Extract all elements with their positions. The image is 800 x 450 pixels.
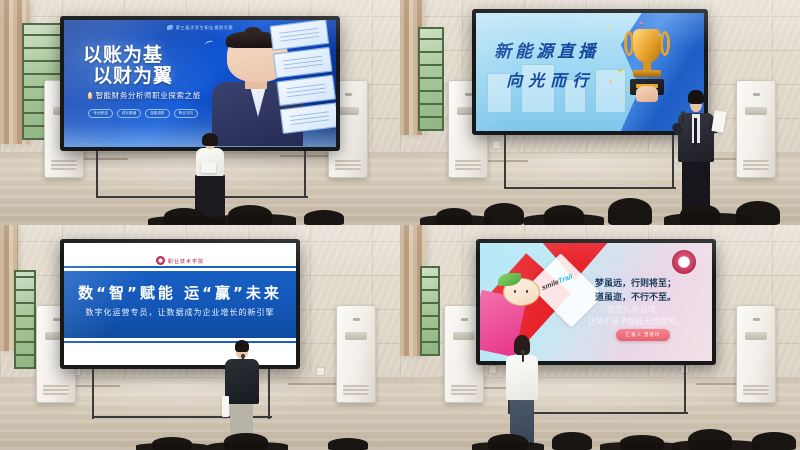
slide-title-line1: 以账为基	[83, 44, 163, 66]
presenter-paper	[201, 162, 215, 173]
microphone-icon	[522, 353, 524, 362]
confetti	[640, 22, 643, 23]
collage-panel-bottom-right: smileTrail 梦虽远，行则将至； 道虽迩，不行不至。 我愿扎根县域， 让…	[400, 225, 800, 450]
photo-collage-grid: 第三届大学生职业规划大赛 以账为基 以财为翼 智能财务分析师职业探索之旅 专业积…	[0, 0, 800, 450]
lightbulb-icon	[88, 92, 92, 99]
trophy-base	[633, 70, 661, 77]
slide-title-line2: 以财为翼	[93, 66, 173, 87]
slide-title: 以账为基 以财为翼	[83, 45, 173, 88]
presenter-hair	[202, 133, 218, 146]
collage-panel-bottom-left: 职业技术学院 数“智”赋能 运“赢”未来 数字化运营专员，让数据成为企业增长的新…	[0, 225, 400, 450]
collage-panel-top-left: 第三届大学生职业规划大赛 以账为基 以财为翼 智能财务分析师职业探索之旅 专业积…	[0, 0, 400, 225]
slide-background: 第三届大学生职业规划大赛 以账为基 以财为翼 智能财务分析师职业探索之旅 专业积…	[64, 20, 336, 147]
institution-seal-icon	[672, 250, 696, 274]
screen-stand	[304, 151, 306, 198]
window	[418, 27, 444, 131]
audience-head	[304, 210, 344, 225]
slide-tag: 成长赛道	[117, 109, 141, 119]
slide-aspiration-line2: 让每个孩子都能无忧微笑。	[573, 316, 698, 328]
slide-background: 新能源直播 向光而行 ★ ★ ★	[476, 13, 704, 131]
confetti	[608, 27, 611, 28]
audience-head	[328, 438, 368, 450]
institution-name: 职业技术学院	[168, 259, 204, 265]
presenter-paper	[222, 396, 229, 417]
slide-title-line1: 新能源直播	[494, 37, 599, 62]
slide-tag: 职业方向	[174, 109, 198, 119]
slide-aspiration-line1: 我愿扎根县域，	[573, 304, 698, 316]
presentation-screen: 新能源直播 向光而行 ★ ★ ★	[472, 9, 708, 135]
screen-stand	[92, 369, 94, 419]
screen-stand	[684, 365, 686, 415]
audience-row	[0, 428, 400, 450]
presenter-jacket	[225, 359, 260, 405]
air-conditioner-unit	[736, 80, 776, 178]
presentation-screen: 第三届大学生职业规划大赛 以账为基 以财为翼 智能财务分析师职业探索之旅 专业积…	[60, 16, 340, 151]
slide-subtitle-text: 智能财务分析师职业探索之旅	[95, 91, 200, 100]
presenter-hair	[235, 340, 249, 352]
air-conditioner-unit	[736, 305, 776, 403]
competition-logo-icon	[167, 25, 173, 30]
star-icon: ★	[617, 67, 623, 75]
audience-shoulders	[672, 440, 760, 450]
microphone-icon	[242, 356, 244, 365]
audience-row	[0, 198, 400, 225]
slide-aspiration: 我愿扎根县域， 让每个孩子都能无忧微笑。	[573, 304, 698, 329]
star-icon: ★	[626, 86, 630, 92]
audience-shoulders	[664, 213, 752, 225]
slide-title-line2: 向光而行	[506, 67, 599, 91]
wall-socket	[492, 140, 501, 149]
trophy-cup	[633, 29, 661, 63]
slide-subtitle: 智能财务分析师职业探索之旅	[88, 90, 200, 101]
slide-surface: 第三届大学生职业规划大赛 以账为基 以财为翼 智能财务分析师职业探索之旅 专业积…	[64, 20, 336, 147]
audience-shoulders	[148, 216, 224, 225]
mascot-eye	[526, 290, 528, 292]
screen-stand	[268, 369, 270, 419]
slide-background: 职业技术学院 数“智”赋能 运“赢”未来 数字化运营专员，让数据成为企业增长的新…	[64, 243, 296, 366]
audience-shoulders	[600, 442, 680, 450]
window	[420, 266, 440, 356]
air-conditioner-unit	[336, 305, 376, 403]
certificate-card	[277, 75, 336, 107]
screen-stand	[504, 135, 506, 189]
hand-holding-trophy	[636, 86, 658, 102]
screen-stand	[96, 151, 98, 198]
presentation-screen: 职业技术学院 数“智”赋能 运“赢”未来 数字化运营专员，让数据成为企业增长的新…	[60, 239, 300, 370]
audience-shoulders	[216, 214, 296, 225]
presenter-credit-button: 汇报人 曾晓玲	[616, 329, 671, 341]
slide-quote-line1: 梦虽远，行则将至；	[573, 278, 698, 292]
certificate-card	[270, 20, 330, 51]
collage-panel-top-right: 新能源直播 向光而行 ★ ★ ★	[400, 0, 800, 225]
slide-surface: 新能源直播 向光而行 ★ ★ ★	[476, 13, 704, 131]
presenter-necktie	[694, 118, 697, 146]
star-icon: ★	[608, 79, 612, 85]
slide-surface: 职业技术学院 数“智”赋能 运“赢”未来 数字化运营专员，让数据成为企业增长的新…	[64, 243, 296, 366]
slide-tag: 专业积淀	[88, 109, 112, 119]
slide-subtitle: 数字化运营专员，让数据成为企业增长的新引擎	[64, 307, 296, 318]
wall-socket	[488, 365, 497, 374]
audience-shoulders	[208, 442, 288, 450]
slide-tag: 技能进阶	[145, 109, 169, 119]
audience-head	[608, 198, 652, 225]
audience-row	[400, 189, 800, 225]
presenter-hair	[688, 90, 703, 104]
audience-shoulders	[420, 215, 492, 225]
institution-seal-icon	[156, 256, 165, 265]
screen-stand	[672, 135, 674, 189]
slide-quote: 梦虽远，行则将至； 道虽迩，不行不至。	[573, 278, 698, 306]
certificate-card	[273, 47, 333, 79]
wall-socket	[316, 367, 325, 376]
audience-shoulders	[136, 443, 208, 450]
slide-title: 数“智”赋能 运“赢”未来	[64, 282, 296, 303]
mascot-eye	[514, 290, 516, 292]
audience-shoulders	[472, 442, 544, 450]
slide-title: 新能源直播 向光而行	[494, 37, 599, 91]
audience-shoulders	[524, 214, 604, 225]
trophy-handle-right	[660, 31, 670, 56]
window	[14, 270, 36, 369]
audience-row	[400, 421, 800, 450]
slide-tag-list: 专业积淀 成长赛道 技能进阶 职业方向	[88, 109, 198, 119]
audience-head	[552, 432, 592, 450]
